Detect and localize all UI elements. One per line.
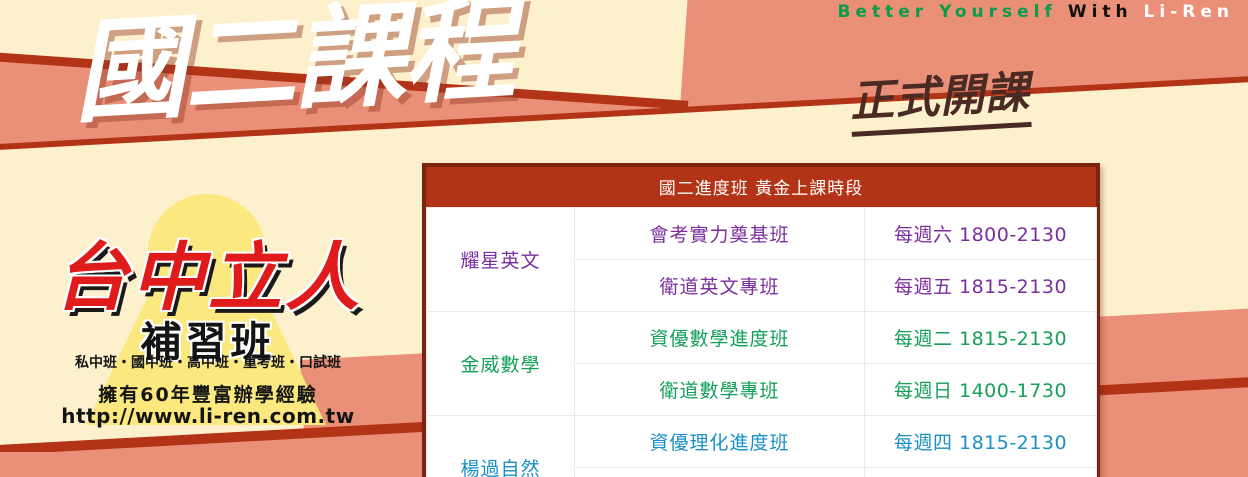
time-cell: 每週二 1815-2130 <box>865 312 1097 364</box>
promotional-banner: Better Yourself With Li-Ren 國二課程 正式開課 台中… <box>0 0 1248 477</box>
schedule-title: 國二進度班 黃金上課時段 <box>426 167 1096 207</box>
table-row: 楊過自然 資優理化進度班 每週四 1815-2130 <box>427 416 1097 468</box>
course-cell: 會考實力奠基班 <box>575 208 865 260</box>
website-url: http://www.li-ren.com.tw <box>28 404 388 428</box>
time-cell: 每週五 1815-2130 <box>865 260 1097 312</box>
schedule-table-body: 耀星英文 會考實力奠基班 每週六 1800-2130 衛道英文專班 每週五 18… <box>427 208 1097 477</box>
course-cell: 資優數學進度班 <box>575 312 865 364</box>
class-types-list: 私中班・國中班・高中班・重考班・口試班 <box>28 352 388 372</box>
course-cell: 衛道數學專班 <box>575 364 865 416</box>
course-cell: 衛道英文專班 <box>575 260 865 312</box>
schedule-table-container: 國二進度班 黃金上課時段 耀星英文 會考實力奠基班 每週六 1800-2130 … <box>422 163 1100 477</box>
time-cell: 每週四 1815-2130 <box>865 416 1097 468</box>
subject-cell: 金威數學 <box>427 312 575 416</box>
table-row: 耀星英文 會考實力奠基班 每週六 1800-2130 <box>427 208 1097 260</box>
time-cell: 每週日 1400-1730 <box>865 364 1097 416</box>
headline-text: 國二課程 <box>70 0 516 130</box>
tagline-part2: With <box>1068 2 1133 22</box>
subheadline-text: 正式開課 <box>848 56 1032 137</box>
course-cell: 資優理化進度班 <box>575 416 865 468</box>
logo-block: 台中立人 補習班 私中班・國中班・高中班・重考班・口試班 擁有60年豐富辦學經驗… <box>28 190 388 430</box>
subject-cell: 楊過自然 <box>427 416 575 477</box>
table-row: 金威數學 資優數學進度班 每週二 1815-2130 <box>427 312 1097 364</box>
subheadline: 正式開課 <box>848 56 1032 137</box>
time-cell: 每週六 1800-2130 <box>865 208 1097 260</box>
subject-cell: 耀星英文 <box>427 208 575 312</box>
tagline: Better Yourself With Li-Ren <box>838 2 1234 22</box>
experience-text: 擁有60年豐富辦學經驗 <box>28 380 388 407</box>
course-cell: 衛道自然專班 <box>575 468 865 477</box>
schedule-table: 耀星英文 會考實力奠基班 每週六 1800-2130 衛道英文專班 每週五 18… <box>426 207 1097 477</box>
tagline-part1: Better Yourself <box>838 2 1057 22</box>
time-cell: 每週日 0900-1230 <box>865 468 1097 477</box>
headline: 國二課程 <box>70 0 516 130</box>
tagline-part3: Li-Ren <box>1144 2 1234 22</box>
